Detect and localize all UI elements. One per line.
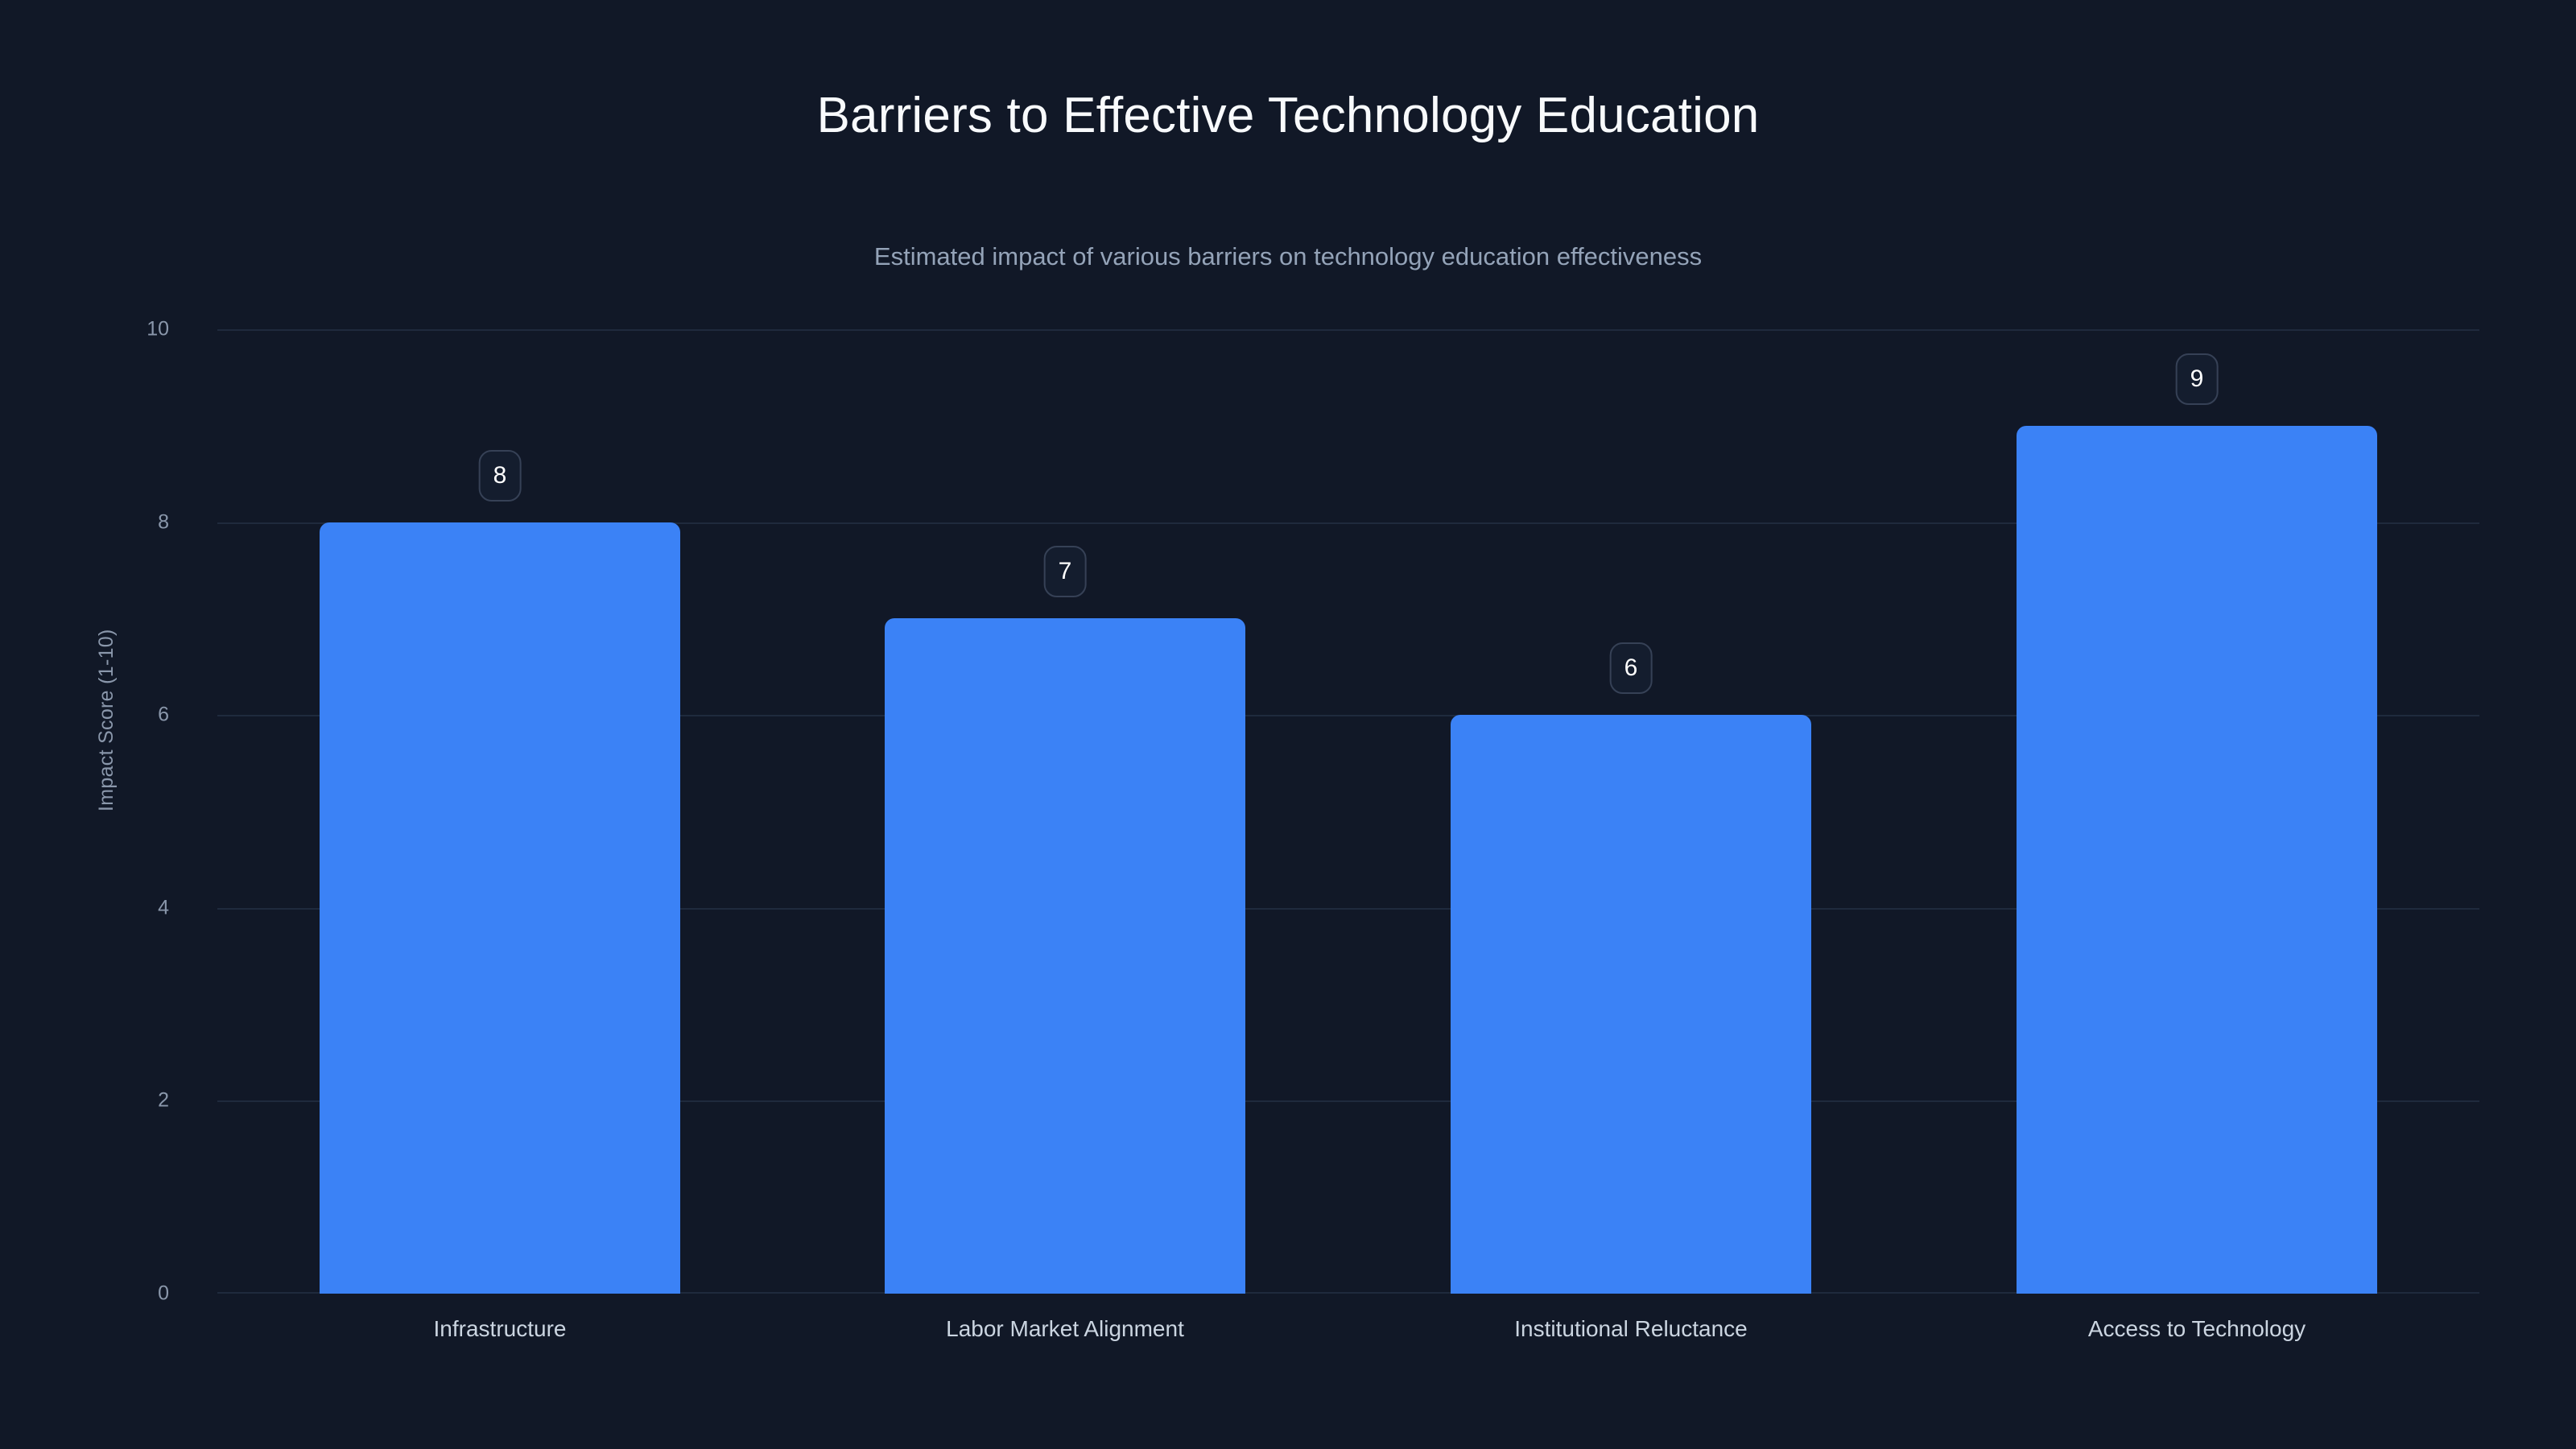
y-tick-label: 6 bbox=[158, 704, 169, 727]
chart-title: Barriers to Effective Technology Educati… bbox=[0, 89, 2576, 143]
x-tick-label-access-to-technology: Access to Technology bbox=[2088, 1316, 2306, 1342]
bar-group-access-to-technology[interactable]: 9 bbox=[2017, 329, 2377, 1294]
bar-value-badge: 6 bbox=[1610, 642, 1653, 694]
bar-value-badge: 7 bbox=[1044, 546, 1087, 597]
x-tick-label-institutional-reluctance: Institutional Reluctance bbox=[1514, 1316, 1748, 1342]
y-tick-label: 4 bbox=[158, 896, 169, 919]
bars-layer: 8 7 6 9 bbox=[217, 329, 2479, 1294]
bar-institutional-reluctance[interactable] bbox=[1451, 715, 1811, 1294]
y-tick-label: 2 bbox=[158, 1089, 169, 1113]
x-tick-label-labor-market-alignment: Labor Market Alignment bbox=[946, 1316, 1184, 1342]
y-axis-ticks: 10 8 6 4 2 0 bbox=[0, 329, 193, 1294]
bar-group-institutional-reluctance[interactable]: 6 bbox=[1451, 329, 1811, 1294]
x-axis-labels: Infrastructure Labor Market Alignment In… bbox=[217, 1316, 2479, 1356]
bar-value-badge: 9 bbox=[2176, 353, 2219, 405]
y-tick-label: 8 bbox=[158, 510, 169, 534]
y-tick-label: 10 bbox=[147, 318, 169, 341]
bar-group-infrastructure[interactable]: 8 bbox=[320, 329, 680, 1294]
bar-labor-market-alignment[interactable] bbox=[885, 618, 1245, 1294]
bar-access-to-technology[interactable] bbox=[2017, 426, 2377, 1294]
bar-value-badge: 8 bbox=[479, 450, 522, 502]
bar-infrastructure[interactable] bbox=[320, 522, 680, 1294]
chart-subtitle: Estimated impact of various barriers on … bbox=[0, 242, 2576, 271]
y-tick-label: 0 bbox=[158, 1282, 169, 1306]
x-tick-label-infrastructure: Infrastructure bbox=[434, 1316, 567, 1342]
bar-chart-figure: Barriers to Effective Technology Educati… bbox=[0, 0, 2576, 1449]
bar-group-labor-market-alignment[interactable]: 7 bbox=[885, 329, 1245, 1294]
